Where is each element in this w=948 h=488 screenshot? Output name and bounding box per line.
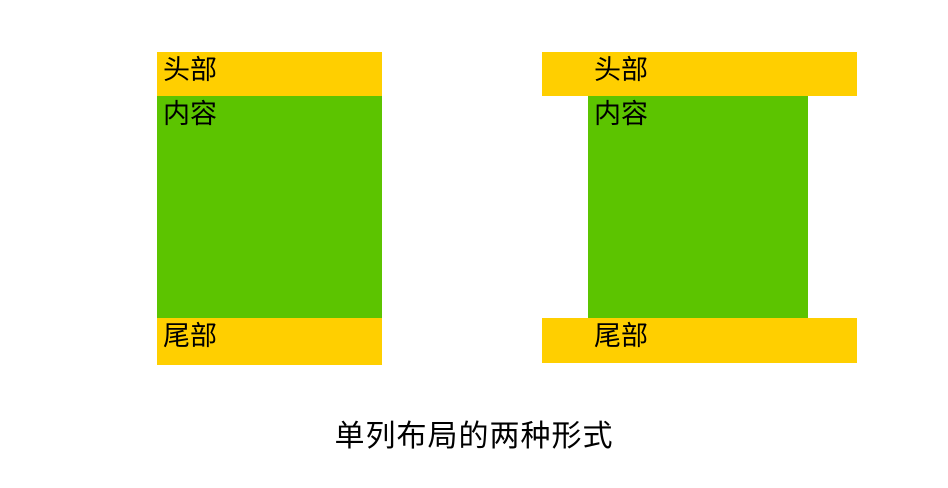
inset-header-block: 头部 xyxy=(542,52,857,96)
flush-content-block: 内容 xyxy=(157,96,382,318)
flush-content-label: 内容 xyxy=(163,99,217,131)
layout-diagram-inset: 头部 内容 尾部 xyxy=(542,52,857,363)
inset-footer-block: 尾部 xyxy=(542,318,857,363)
flush-header-label: 头部 xyxy=(163,55,217,87)
inset-header-label: 头部 xyxy=(594,55,648,87)
layout-diagram-flush: 头部 内容 尾部 xyxy=(157,52,382,365)
flush-footer-label: 尾部 xyxy=(163,321,217,353)
flush-header-block: 头部 xyxy=(157,52,382,96)
diagram-caption: 单列布局的两种形式 xyxy=(0,419,948,455)
inset-content-label: 内容 xyxy=(594,99,648,131)
inset-footer-label: 尾部 xyxy=(594,321,648,353)
flush-footer-block: 尾部 xyxy=(157,318,382,365)
diagram-canvas: 头部 内容 尾部 头部 内容 尾部 单列布局的两种形式 xyxy=(0,0,948,488)
